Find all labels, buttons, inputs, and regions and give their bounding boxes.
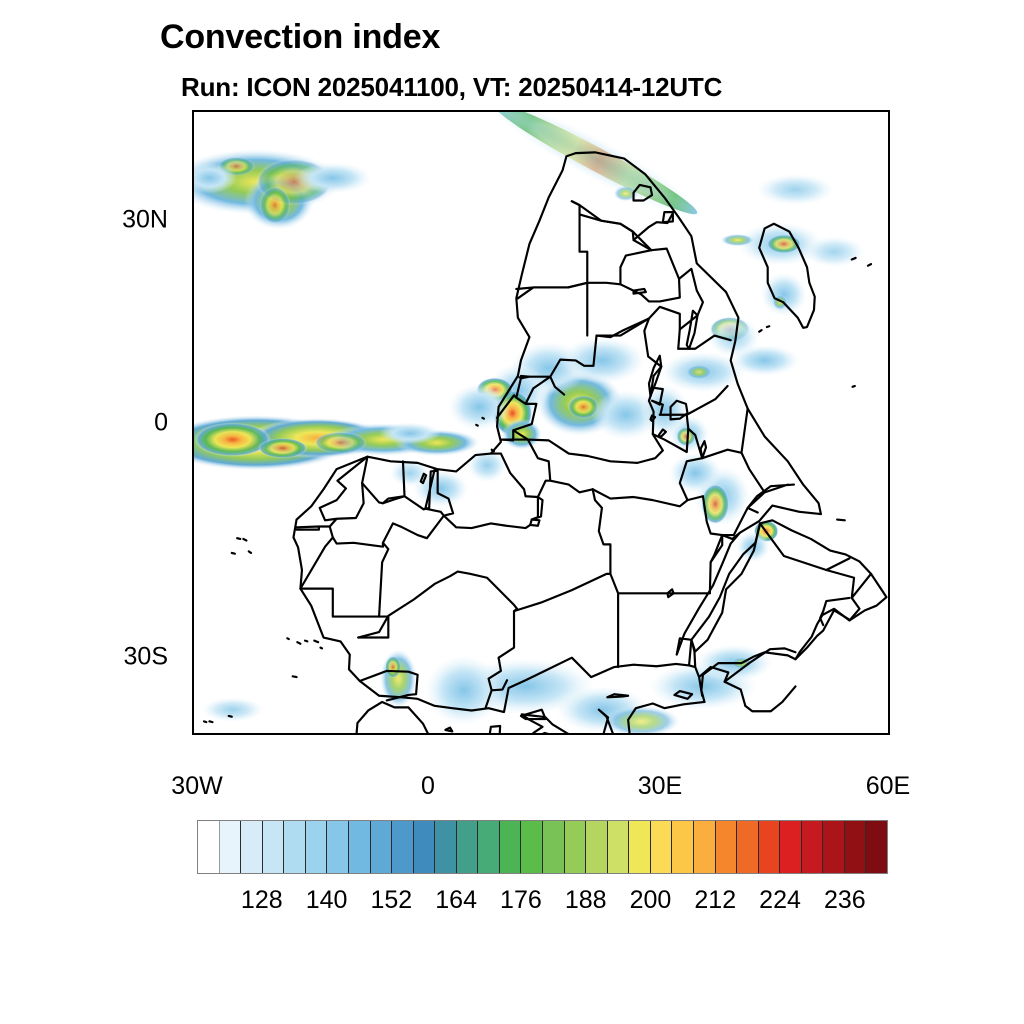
ytick-label-30n: 30N bbox=[48, 206, 168, 235]
border-sudan-chad-libya bbox=[593, 489, 611, 574]
ytick-major-30n bbox=[192, 222, 194, 224]
ytick-minor-7n bbox=[192, 280, 194, 282]
xtick-label-30e: 30E bbox=[590, 772, 730, 801]
colorbar-cell-4 bbox=[284, 821, 306, 873]
colorbar-cell-26 bbox=[759, 821, 781, 873]
colorbar-cell-1 bbox=[220, 821, 242, 873]
colorbar-cell-3 bbox=[263, 821, 285, 873]
border-senegal-gambia bbox=[297, 527, 333, 538]
colorbar-cell-0 bbox=[198, 821, 220, 873]
comoros bbox=[759, 326, 769, 331]
xtick-top-40e bbox=[737, 110, 739, 112]
ytick-label-30s: 30S bbox=[48, 643, 168, 672]
colorbar-cell-22 bbox=[672, 821, 694, 873]
run-valid-time-subtitle: Run: ICON 2025041100, VT: 20250414-12UTC bbox=[181, 72, 722, 103]
feature-south-atlantic-cyclone bbox=[194, 149, 371, 229]
xtick-top-50e bbox=[814, 110, 816, 112]
colorbar-cell-14 bbox=[500, 821, 522, 873]
colorbar-cell-30 bbox=[845, 821, 867, 873]
xtick-label-0: 0 bbox=[358, 772, 498, 801]
ytick-major-30s bbox=[192, 659, 194, 661]
colorbar-cell-28 bbox=[802, 821, 824, 873]
colorbar-cell-15 bbox=[521, 821, 543, 873]
socotra bbox=[837, 520, 845, 521]
feature-mediterranean bbox=[202, 645, 773, 733]
colorbar-cell-31 bbox=[866, 821, 887, 873]
africa-convection-map bbox=[194, 112, 888, 733]
border-mauritania bbox=[300, 537, 388, 616]
colorbar-cell-24 bbox=[716, 821, 738, 873]
colorbar-cell-8 bbox=[371, 821, 393, 873]
colorbar-cell-29 bbox=[823, 821, 845, 873]
canary-islands bbox=[287, 638, 322, 648]
xtick-top-30w bbox=[194, 110, 196, 112]
border-saudi-yemen-oman bbox=[760, 523, 871, 620]
seychelles bbox=[853, 386, 855, 387]
border-namibia-botswana bbox=[516, 201, 651, 289]
colorbar-cell-20 bbox=[629, 821, 651, 873]
balearics bbox=[445, 728, 452, 732]
border-zambia-zimbabwe-moz bbox=[597, 249, 680, 349]
xtick-top-0 bbox=[427, 110, 429, 112]
colorbar-cell-2 bbox=[241, 821, 263, 873]
colorbar-cell-27 bbox=[780, 821, 802, 873]
feature-mozambique-channel bbox=[708, 174, 865, 357]
ytick-major-0 bbox=[192, 425, 194, 427]
cape-verde-islands bbox=[232, 538, 251, 554]
bioko bbox=[492, 450, 494, 452]
madeira-island bbox=[293, 676, 297, 677]
xtick-label-60e: 60E bbox=[818, 772, 958, 801]
colorbar-cell-16 bbox=[543, 821, 565, 873]
xtick-top-10w bbox=[349, 110, 351, 112]
xtick-top-30e bbox=[659, 110, 661, 112]
colorbar-cell-5 bbox=[306, 821, 328, 873]
colorbar-cell-9 bbox=[392, 821, 414, 873]
xtick-label-30w: 30W bbox=[127, 772, 267, 801]
colorbar-cell-17 bbox=[565, 821, 587, 873]
colorbar-cell-21 bbox=[651, 821, 673, 873]
colorbar bbox=[197, 820, 888, 874]
xtick-top-10e bbox=[504, 110, 506, 112]
sardinia bbox=[489, 726, 501, 733]
border-libya-egypt bbox=[514, 574, 618, 667]
colorbar-cell-25 bbox=[737, 821, 759, 873]
colorbar-cell-18 bbox=[586, 821, 608, 873]
colorbar-cell-6 bbox=[327, 821, 349, 873]
xtick-top-20w bbox=[272, 110, 274, 112]
page-title: Convection index bbox=[160, 18, 440, 57]
convection-field bbox=[194, 112, 865, 733]
xtick-top-20e bbox=[582, 110, 584, 112]
ytick-minor-15s bbox=[192, 542, 194, 544]
colorbar-cell-23 bbox=[694, 821, 716, 873]
ytick-minor-15n bbox=[192, 339, 194, 341]
colorbar-cell-12 bbox=[457, 821, 479, 873]
ytick-label-0: 0 bbox=[48, 409, 168, 438]
map-plot-area bbox=[192, 110, 890, 735]
feature-atlantic-itcz bbox=[194, 415, 479, 471]
colorbar-cell-11 bbox=[435, 821, 457, 873]
colorbar-tick-236: 236 bbox=[805, 886, 885, 915]
persian-gulf bbox=[795, 610, 849, 659]
colorbar-cell-7 bbox=[349, 821, 371, 873]
colorbar-cell-19 bbox=[608, 821, 630, 873]
colorbar-cell-10 bbox=[414, 821, 436, 873]
colorbar-cell-13 bbox=[478, 821, 500, 873]
convection-index-figure: Convection index Run: ICON 2025041100, V… bbox=[0, 0, 1024, 1024]
